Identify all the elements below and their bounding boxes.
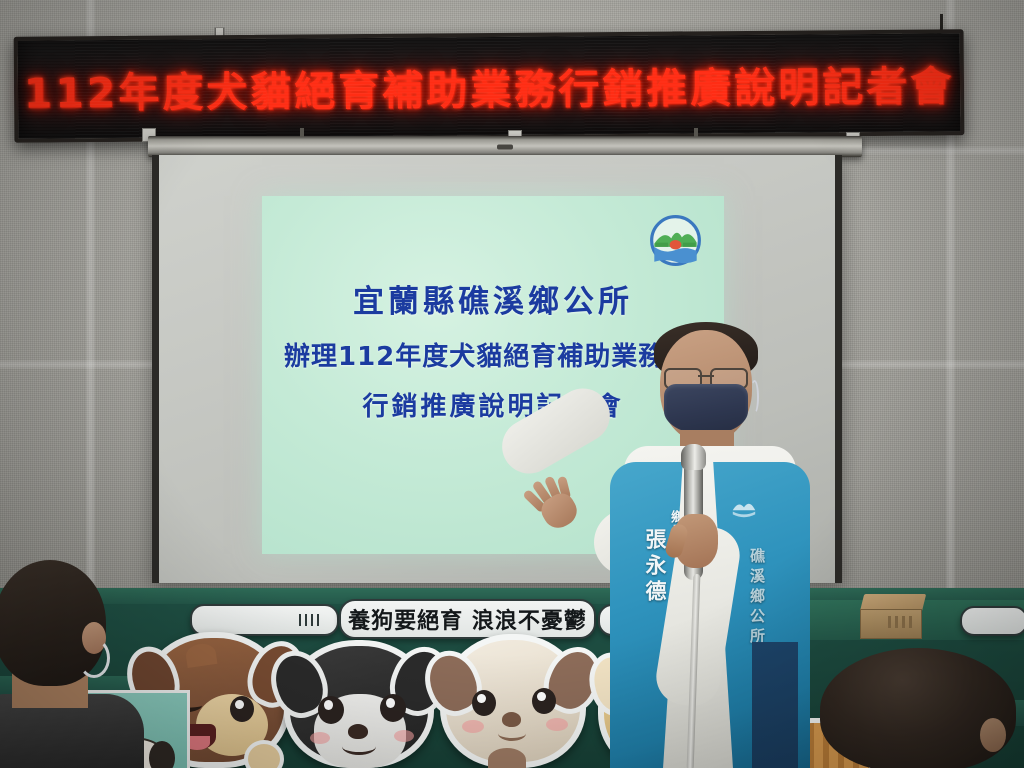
cardboard-box [860, 596, 924, 636]
dog-eye [230, 696, 254, 722]
mask-ear-loop [750, 380, 759, 414]
screen-edge-left [152, 155, 159, 583]
blank-speech-bubble-far-right [960, 606, 1024, 636]
led-banner-text: 112年度犬貓絕育補助業務行銷推廣說明記者會 [18, 52, 960, 119]
screen-pull-knob[interactable] [497, 144, 513, 149]
audience-member-right [820, 648, 1024, 768]
box-vent-slats [888, 616, 912, 628]
dog-eye [318, 696, 344, 724]
dog-eye [380, 694, 406, 722]
dog-mouth [342, 738, 376, 755]
projector-screen-housing[interactable] [148, 136, 862, 157]
speaker-glasses [664, 368, 748, 385]
vest-side-panel [752, 642, 798, 768]
wall-seam [860, 146, 1024, 155]
bubble-lines-icon [299, 614, 321, 626]
screen-hook [300, 128, 304, 137]
screen-hook [694, 128, 698, 137]
speaker-raised-hand [519, 468, 591, 538]
speaker-face-mask [664, 384, 748, 434]
dog-nose [348, 724, 368, 739]
vest-org-text: 礁溪鄉公所 [747, 548, 768, 648]
speaker-right-forearm [492, 379, 619, 484]
microphone-head [681, 444, 706, 470]
vest-emblem-icon [730, 492, 758, 520]
dog-cheek [394, 730, 414, 742]
dog-cheek [310, 732, 330, 744]
township-emblem-icon [649, 214, 702, 267]
dog-paw [244, 740, 284, 768]
audience-member-left [0, 560, 136, 768]
photo-scene: 112年度犬貓絕育補助業務行銷推廣說明記者會 宜蘭縣礁溪鄉公所 辦理112年度犬… [0, 0, 1024, 768]
slide-title-line1: 宜蘭縣礁溪鄉公所 [262, 276, 724, 321]
led-scrolling-banner: 112年度犬貓絕育補助業務行銷推廣說明記者會 [14, 29, 965, 142]
poster-dog-ear [149, 741, 175, 768]
vest-name-text: 張永德 [640, 528, 670, 606]
speaker-township-mayor: 鄉長 張永德 礁溪鄉公所 [488, 318, 836, 768]
black-white-dog-cutout [284, 640, 434, 768]
screen-edge-right [835, 155, 842, 583]
audience-right-ear [980, 718, 1006, 752]
dog-cheek [462, 720, 484, 733]
audience-left-mask-strap [78, 638, 110, 678]
